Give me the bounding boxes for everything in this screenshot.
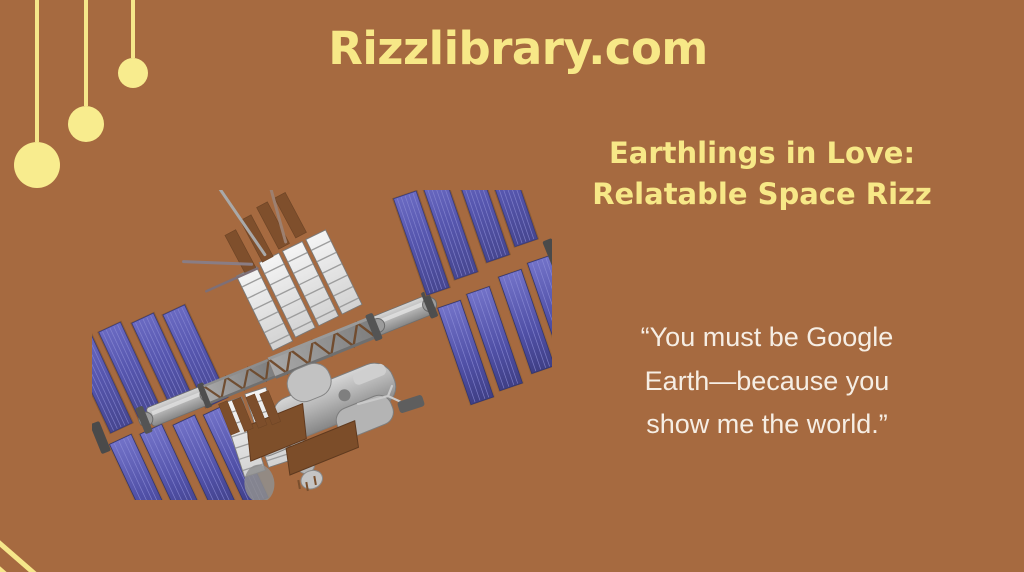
subtitle-line-1: Earthlings in Love: (512, 133, 1012, 174)
pendant-bulb (14, 142, 60, 188)
diagonal-stripe (0, 507, 264, 572)
poster-canvas: Rizzlibrary.com Earthlings in Love: Rela… (0, 0, 1024, 572)
arm-end-effector (397, 394, 425, 413)
quote-line-3: show me the world.” (562, 403, 972, 447)
pendant-bulb (68, 106, 104, 142)
diagonal-stripe (0, 533, 264, 572)
quote-text: “You must be Google Earth—because you sh… (562, 316, 972, 447)
subtitle-heading: Earthlings in Love: Relatable Space Rizz (512, 133, 1012, 215)
iss-svg (92, 190, 552, 500)
quote-line-1: “You must be Google (562, 316, 972, 360)
subtitle-line-2: Relatable Space Rizz (512, 174, 1012, 215)
page-title: Rizzlibrary.com (0, 24, 1024, 74)
quote-line-2: Earth—because you (562, 360, 972, 404)
iss-illustration (92, 190, 552, 500)
starboard-rotary-joint (365, 289, 441, 342)
